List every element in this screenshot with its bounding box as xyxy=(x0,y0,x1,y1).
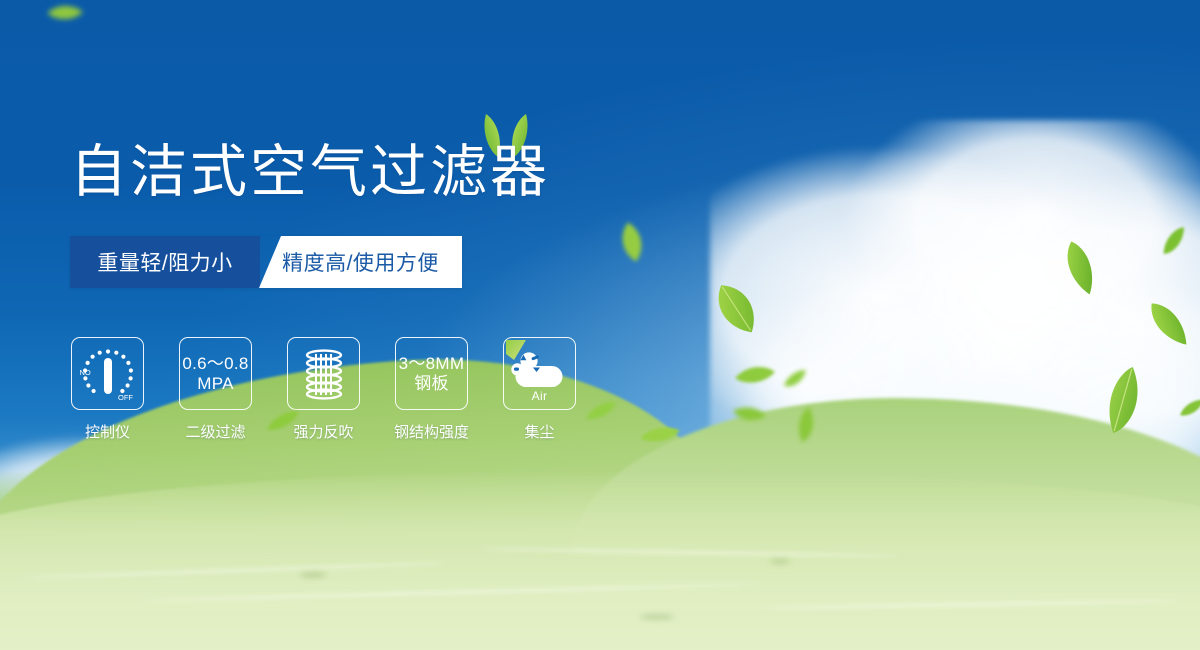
pressure-line-2: MPA xyxy=(182,374,248,393)
feature-box-strong-backflush xyxy=(287,337,360,410)
feature-label-control-meter: 控制仪 xyxy=(85,421,130,442)
filter-cartridge-stack-icon xyxy=(292,342,356,406)
feature-item-two-stage-filter[interactable]: 0.6〜0.8 MPA 二级过滤 xyxy=(178,337,253,442)
feature-list: NO OFF 控制仪 0.6〜0.8 MPA 二级过滤 xyxy=(70,337,577,442)
gauge-label-off: OFF xyxy=(118,393,133,402)
feature-box-control-meter: NO OFF xyxy=(71,337,144,410)
subtitle-bar: 重量轻/阻力小 精度高/使用方便 xyxy=(70,236,462,288)
gauge-dial-icon: NO OFF xyxy=(76,342,140,406)
grass-speck-2 xyxy=(770,559,790,564)
feature-item-strong-backflush[interactable]: 强力反吹 xyxy=(286,337,361,442)
feature-item-control-meter[interactable]: NO OFF 控制仪 xyxy=(70,337,145,442)
feature-item-dust-collection[interactable]: Air 集尘 xyxy=(502,337,577,442)
feature-label-dust-collection: 集尘 xyxy=(524,421,554,442)
pressure-value-icon: 0.6〜0.8 MPA xyxy=(182,354,248,392)
grass-foreground xyxy=(0,470,1200,650)
gauge-label-no: NO xyxy=(79,368,90,377)
steel-plate-value-icon: 3〜8MM 钢板 xyxy=(399,354,465,392)
steel-line-2: 钢板 xyxy=(399,374,465,393)
air-filter-hero-banner: 自洁式空气过滤器 重量轻/阻力小 精度高/使用方便 xyxy=(0,0,1200,650)
pressure-line-1: 0.6〜0.8 xyxy=(182,354,248,373)
air-caption: Air xyxy=(504,389,575,403)
steel-line-1: 3〜8MM xyxy=(399,354,465,373)
feature-label-steel-strength: 钢结构强度 xyxy=(394,421,469,442)
feature-box-steel-strength: 3〜8MM 钢板 xyxy=(395,337,468,410)
subtitle-right-chip: 精度高/使用方便 xyxy=(259,236,462,288)
feature-box-dust-collection: Air xyxy=(503,337,576,410)
grass-speck-1 xyxy=(300,572,326,578)
feature-box-two-stage-filter: 0.6〜0.8 MPA xyxy=(179,337,252,410)
feature-label-two-stage-filter: 二级过滤 xyxy=(185,421,245,442)
feature-item-steel-strength[interactable]: 3〜8MM 钢板 钢结构强度 xyxy=(394,337,469,442)
feature-label-strong-backflush: 强力反吹 xyxy=(293,421,353,442)
page-title: 自洁式空气过滤器 xyxy=(70,144,550,201)
grass-speck-3 xyxy=(640,614,674,620)
subtitle-left-chip: 重量轻/阻力小 xyxy=(70,236,260,288)
